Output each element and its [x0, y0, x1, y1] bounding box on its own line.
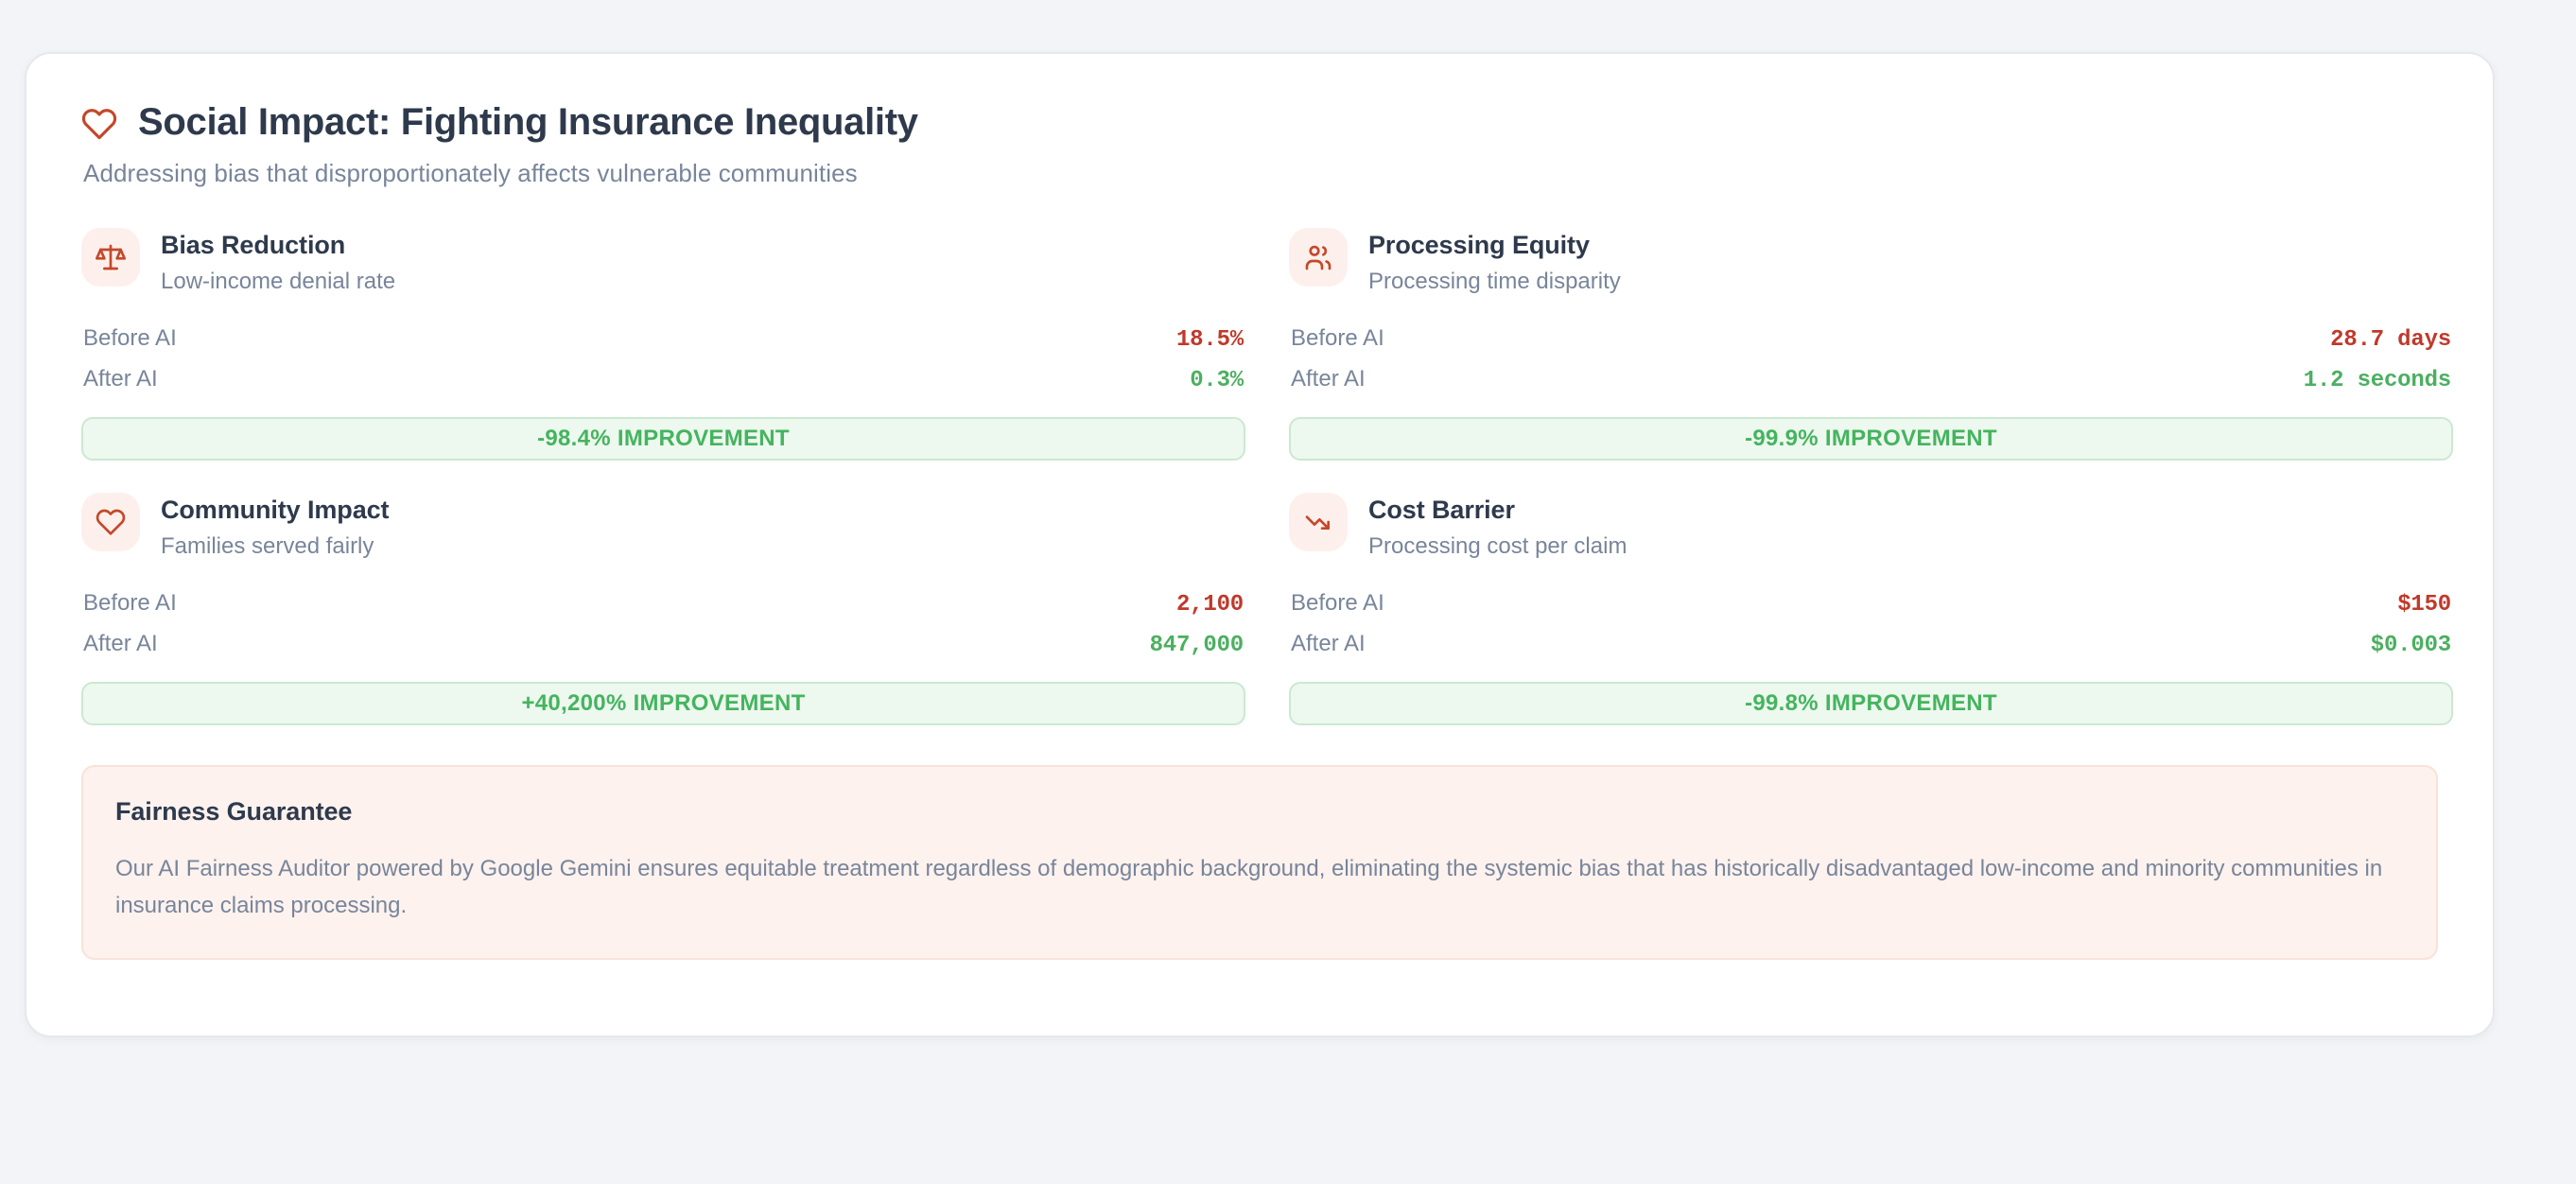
metric-header: Cost Barrier Processing cost per claim: [1289, 493, 2453, 561]
metric-row-after: After AI 0.3%: [81, 359, 1245, 400]
fairness-guarantee-box: Fairness Guarantee Our AI Fairness Audit…: [81, 765, 2438, 961]
metrics-grid: Bias Reduction Low-income denial rate Be…: [81, 228, 2438, 725]
social-impact-panel: Social Impact: Fighting Insurance Inequa…: [25, 52, 2495, 1037]
row-label-after: After AI: [1291, 366, 1366, 392]
metric-subtitle: Processing time disparity: [1368, 269, 1621, 296]
row-label-before: Before AI: [83, 325, 177, 352]
metric-title: Cost Barrier: [1368, 496, 1627, 525]
page-title: Social Impact: Fighting Insurance Inequa…: [138, 101, 918, 144]
metric-headtext: Cost Barrier Processing cost per claim: [1368, 493, 1627, 561]
metric-value-rows: Before AI $150 After AI $0.003: [1289, 583, 2453, 665]
row-label-before: Before AI: [1291, 325, 1384, 352]
row-value-after: 847,000: [1150, 633, 1244, 658]
scales-of-justice-icon: [96, 242, 126, 272]
improvement-label: -98.4% IMPROVEMENT: [537, 426, 790, 452]
metric-row-after: After AI $0.003: [1289, 624, 2453, 665]
improvement-label: +40,200% IMPROVEMENT: [521, 690, 805, 717]
metric-subtitle: Processing cost per claim: [1368, 533, 1627, 561]
fairness-guarantee-title: Fairness Guarantee: [115, 797, 2404, 827]
row-label-before: Before AI: [1291, 590, 1384, 617]
metric-title: Community Impact: [161, 496, 389, 525]
users-group-icon: [1303, 242, 1333, 272]
fairness-guarantee-body: Our AI Fairness Auditor powered by Googl…: [115, 851, 2404, 925]
metric-row-before: Before AI $150: [1289, 583, 2453, 624]
metric-icon-badge: [1289, 228, 1348, 287]
metric-header: Processing Equity Processing time dispar…: [1289, 228, 2453, 296]
row-label-after: After AI: [83, 631, 158, 657]
metric-row-after: After AI 847,000: [81, 624, 1245, 665]
row-label-after: After AI: [1291, 631, 1366, 657]
metric-card-bias-reduction: Bias Reduction Low-income denial rate Be…: [81, 228, 1245, 461]
metric-value-rows: Before AI 2,100 After AI 847,000: [81, 583, 1245, 665]
improvement-badge: +40,200% IMPROVEMENT: [81, 682, 1245, 725]
metric-row-before: Before AI 18.5%: [81, 319, 1245, 359]
metric-header: Bias Reduction Low-income denial rate: [81, 228, 1245, 296]
metric-card-cost-barrier: Cost Barrier Processing cost per claim B…: [1289, 493, 2453, 725]
row-label-before: Before AI: [83, 590, 177, 617]
metric-headtext: Bias Reduction Low-income denial rate: [161, 228, 395, 296]
title-row: Social Impact: Fighting Insurance Inequa…: [81, 101, 2438, 144]
metric-title: Bias Reduction: [161, 231, 395, 260]
row-value-before: 28.7 days: [2330, 327, 2451, 353]
row-value-before: 18.5%: [1176, 327, 1244, 353]
panel-header: Social Impact: Fighting Insurance Inequa…: [81, 92, 2438, 188]
row-value-before: 2,100: [1176, 592, 1244, 618]
metric-row-before: Before AI 2,100: [81, 583, 1245, 624]
metric-icon-badge: [81, 493, 140, 551]
metric-header: Community Impact Families served fairly: [81, 493, 1245, 561]
metric-headtext: Community Impact Families served fairly: [161, 493, 389, 561]
metric-card-community-impact: Community Impact Families served fairly …: [81, 493, 1245, 725]
metric-headtext: Processing Equity Processing time dispar…: [1368, 228, 1621, 296]
metric-icon-badge: [81, 228, 140, 287]
metric-subtitle: Low-income denial rate: [161, 269, 395, 296]
row-value-before: $150: [2397, 592, 2451, 618]
row-label-after: After AI: [83, 366, 158, 392]
metric-title: Processing Equity: [1368, 231, 1621, 260]
metric-value-rows: Before AI 18.5% After AI 0.3%: [81, 319, 1245, 400]
metric-row-before: Before AI 28.7 days: [1289, 319, 2453, 359]
heart-outline-icon: [96, 507, 126, 537]
improvement-label: -99.8% IMPROVEMENT: [1745, 690, 1997, 717]
improvement-badge: -99.8% IMPROVEMENT: [1289, 682, 2453, 725]
metric-card-processing-equity: Processing Equity Processing time dispar…: [1289, 228, 2453, 461]
metric-row-after: After AI 1.2 seconds: [1289, 359, 2453, 400]
heart-outline-icon: [81, 106, 117, 142]
improvement-badge: -98.4% IMPROVEMENT: [81, 417, 1245, 461]
row-value-after: $0.003: [2371, 633, 2451, 658]
metric-value-rows: Before AI 28.7 days After AI 1.2 seconds: [1289, 319, 2453, 400]
row-value-after: 0.3%: [1190, 368, 1244, 393]
metric-subtitle: Families served fairly: [161, 533, 389, 561]
improvement-badge: -99.9% IMPROVEMENT: [1289, 417, 2453, 461]
trending-down-icon: [1303, 507, 1333, 537]
row-value-after: 1.2 seconds: [2304, 368, 2451, 393]
page-subtitle: Addressing bias that disproportionately …: [83, 159, 2438, 188]
metric-icon-badge: [1289, 493, 1348, 551]
improvement-label: -99.9% IMPROVEMENT: [1745, 426, 1997, 452]
